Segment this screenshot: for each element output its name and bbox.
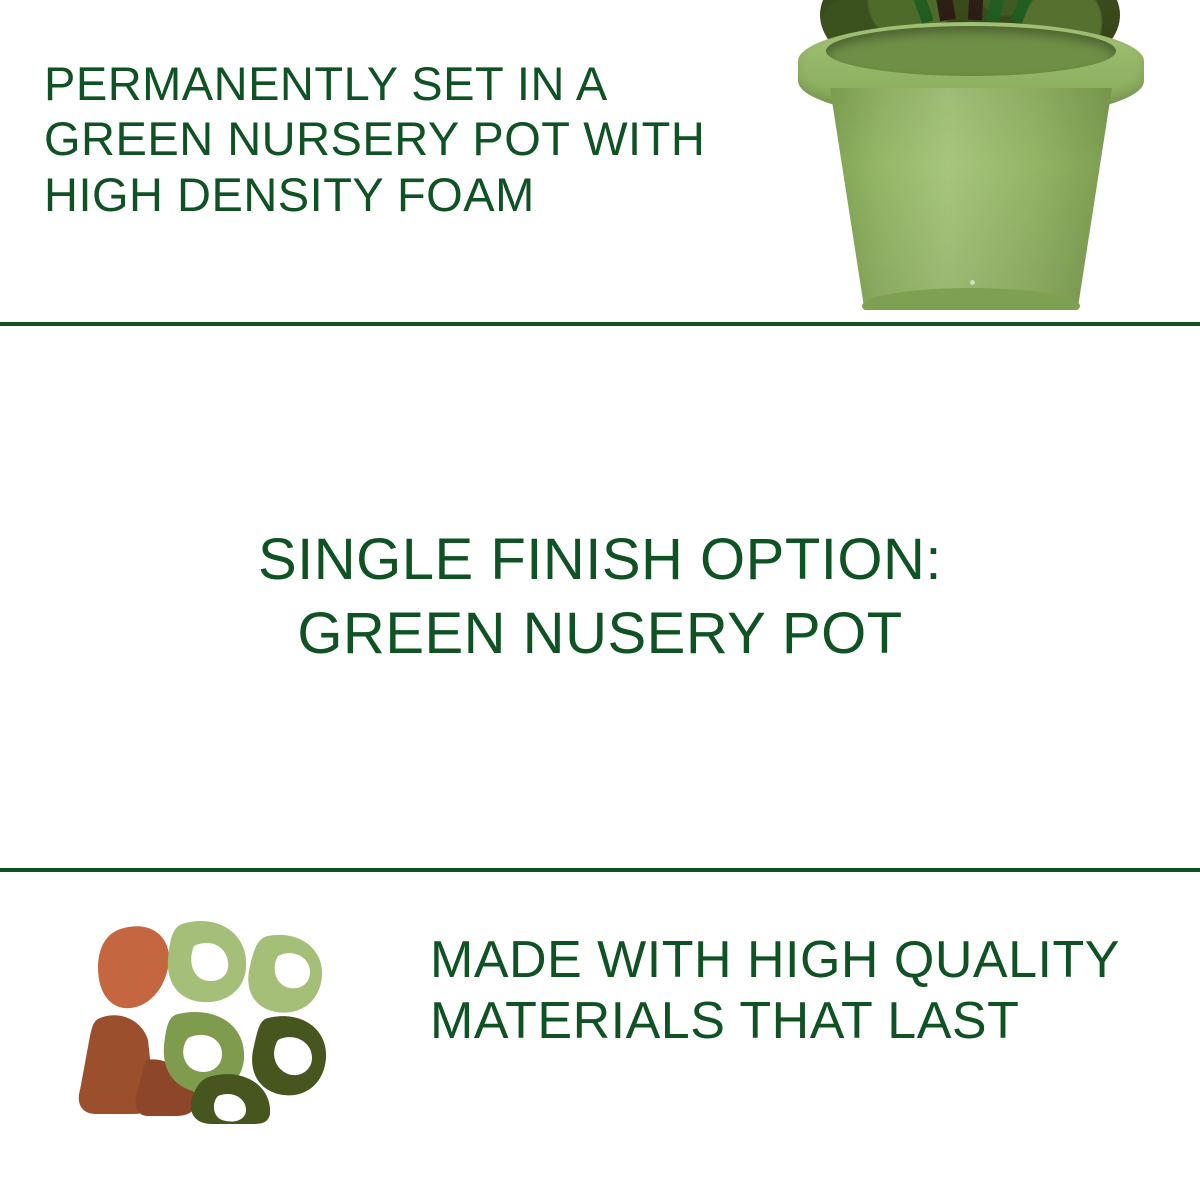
feature-three-text: MADE WITH HIGH QUALITY MATERIALS THAT LA… xyxy=(430,930,1150,1053)
leaf-tree-logo xyxy=(62,910,338,1124)
feature-one-text: PERMANENTLY SET IN A GREEN NURSERY POT W… xyxy=(44,56,744,222)
pot-body-shading xyxy=(830,88,1112,306)
pot-highlight-speck xyxy=(970,280,975,285)
feature-panel-three: MADE WITH HIGH QUALITY MATERIALS THAT LA… xyxy=(0,872,1200,1200)
feature-panel-two: SINGLE FINISH OPTION: GREEN NUSERY POT xyxy=(0,326,1200,868)
nursery-pot-photo xyxy=(790,0,1162,310)
infographic-page: PERMANENTLY SET IN A GREEN NURSERY POT W… xyxy=(0,0,1200,1200)
feature-panel-one: PERMANENTLY SET IN A GREEN NURSERY POT W… xyxy=(0,0,1200,322)
feature-two-text: SINGLE FINISH OPTION: GREEN NUSERY POT xyxy=(258,523,942,671)
pot-rim-inner xyxy=(826,26,1116,76)
